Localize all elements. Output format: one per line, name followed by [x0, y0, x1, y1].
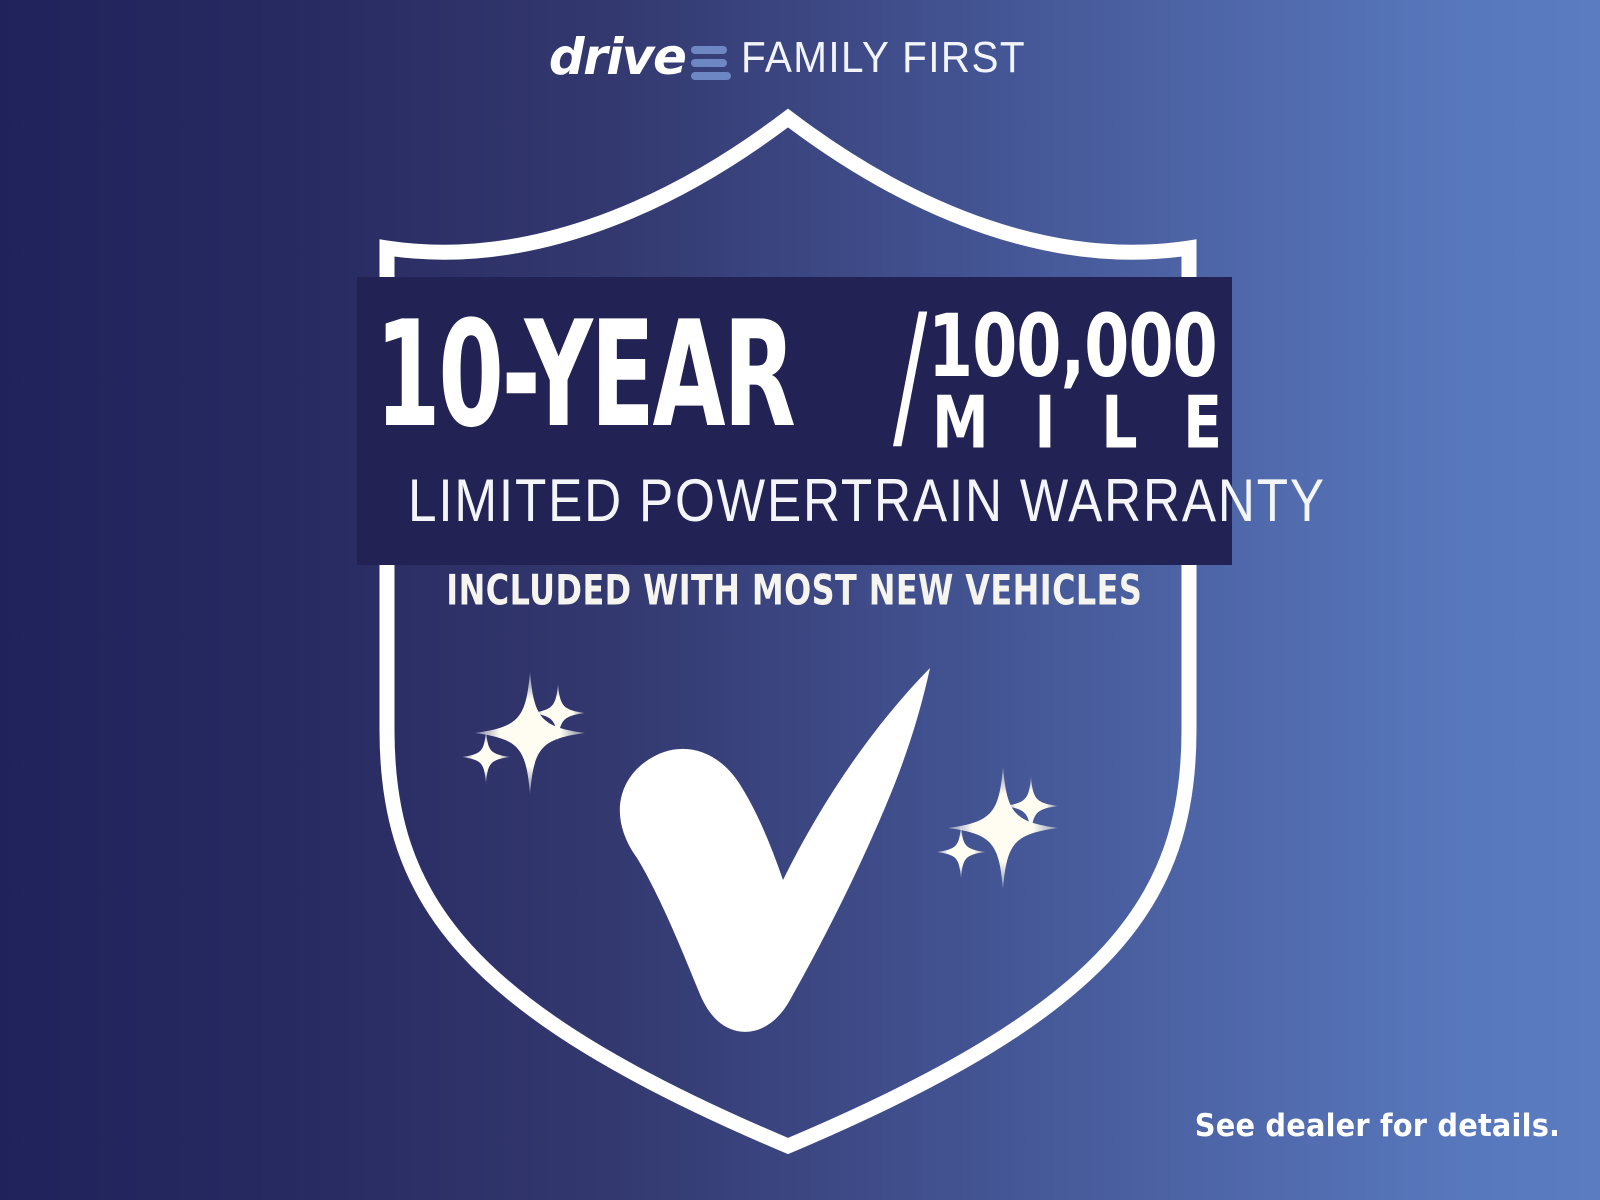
headline-miles: 100,000: [928, 303, 1217, 389]
headline-group: 10-YEAR / 100,000 M I L E: [357, 301, 1232, 461]
headline-mile-unit: M I L E: [932, 387, 1235, 459]
included-note: INCLUDED WITH MOST NEW VEHICLES: [357, 571, 1232, 609]
subheadline-text: LIMITED POWERTRAIN WARRANTY: [408, 472, 1326, 532]
headline-years: 10-YEAR: [375, 301, 793, 447]
sparkle-star-icon: [937, 767, 1058, 889]
included-note-text: INCLUDED WITH MOST NEW VEHICLES: [446, 569, 1142, 611]
disclaimer: See dealer for details.: [1181, 1111, 1574, 1142]
headline-banner: 10-YEAR / 100,000 M I L E LIMITED POWERT…: [357, 277, 1232, 565]
sparkle-star-icon: [462, 672, 585, 794]
disclaimer-text: See dealer for details.: [1195, 1111, 1560, 1142]
subheadline: LIMITED POWERTRAIN WARRANTY: [357, 473, 1232, 530]
warranty-badge-graphic: drive FAMILY FIRST: [0, 0, 1600, 1200]
checkmark-icon: [620, 668, 930, 1032]
headline-slash: /: [893, 293, 927, 457]
